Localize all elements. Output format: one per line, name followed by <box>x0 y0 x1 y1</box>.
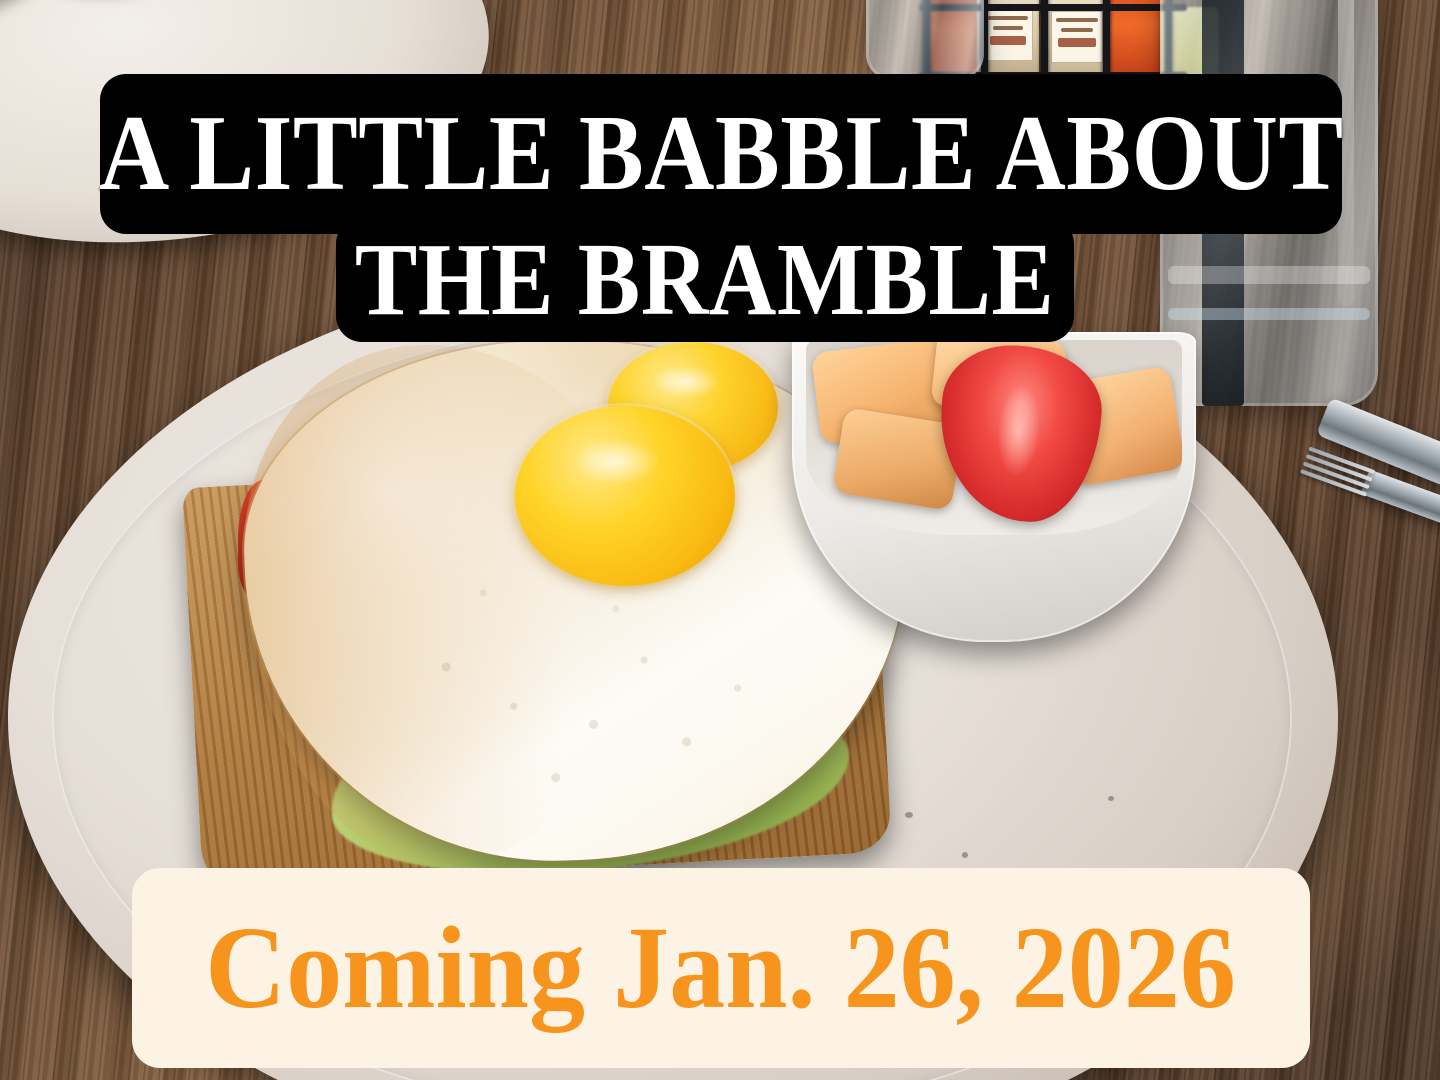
glass-band-lower <box>1168 308 1370 320</box>
glass-band <box>1168 266 1370 284</box>
plate-speck <box>905 812 913 818</box>
title-line-2-text: THE BRAMBLE <box>355 228 1054 332</box>
promo-graphic: A LITTLE BABBLE ABOUT THE BRAMBLE Coming… <box>0 0 1440 1080</box>
hash-browns <box>0 0 143 78</box>
yolk-gloss <box>652 365 720 399</box>
hash-browns-secondary <box>0 0 214 5</box>
strawberry-core <box>995 383 1043 477</box>
title-banner-line-2: THE BRAMBLE <box>336 218 1074 342</box>
plate-speck <box>962 852 968 858</box>
title-banner-line-1: A LITTLE BABBLE ABOUT <box>100 74 1342 234</box>
yolk-gloss <box>572 438 660 485</box>
date-banner: Coming Jan. 26, 2026 <box>132 868 1310 1068</box>
strawberry-half <box>934 341 1106 527</box>
egg-yolk-front <box>515 406 735 586</box>
water-glass-back <box>866 0 984 80</box>
plate-speck <box>1108 796 1114 801</box>
date-banner-text: Coming Jan. 26, 2026 <box>206 909 1237 1027</box>
fruit-cup-contents <box>806 340 1182 535</box>
title-line-1-text: A LITTLE BABBLE ABOUT <box>99 100 1344 208</box>
